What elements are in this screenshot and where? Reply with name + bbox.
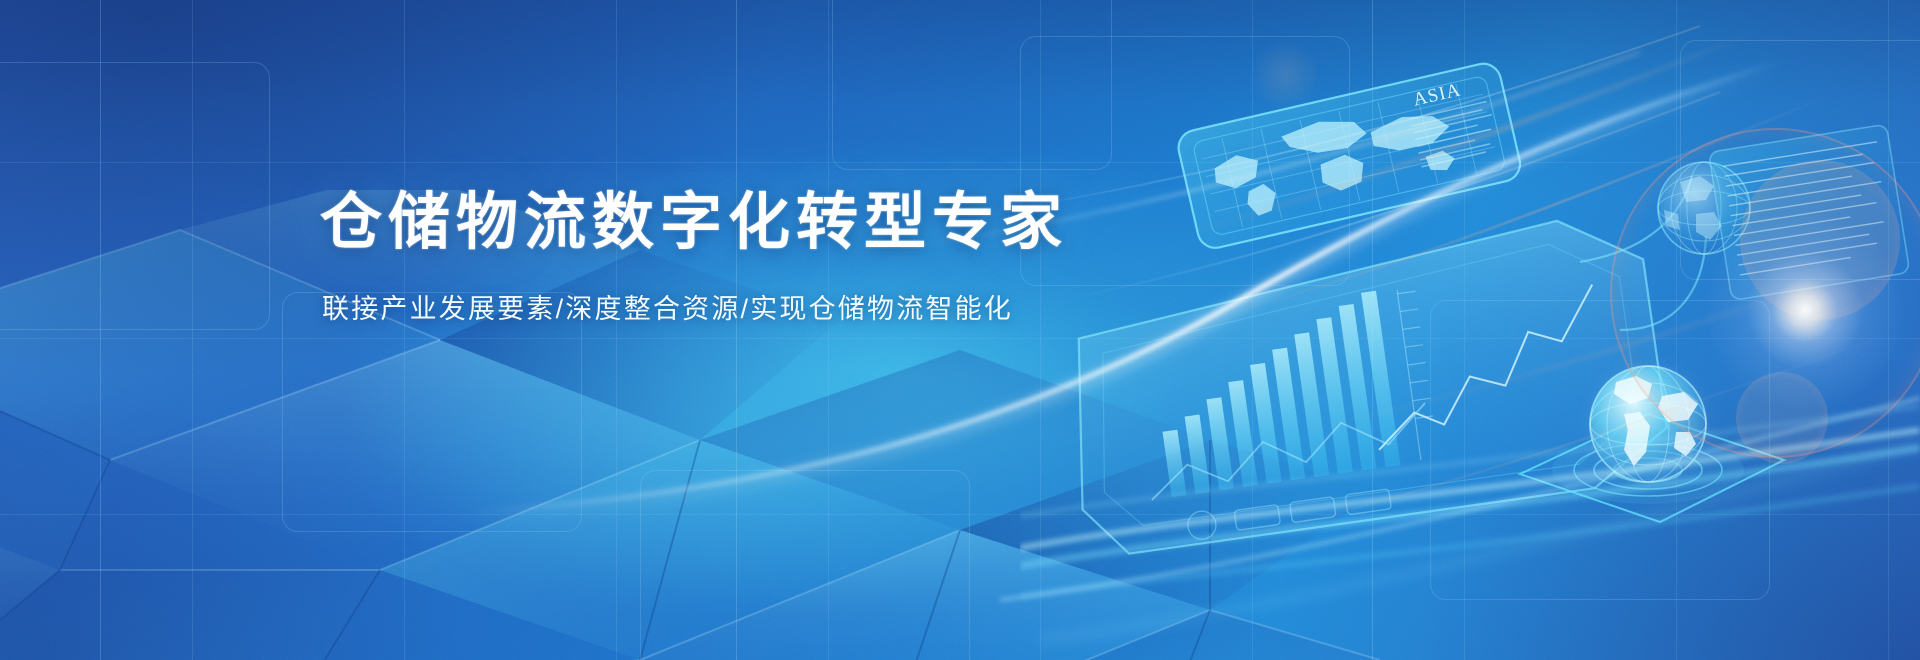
hero-banner: ASIA xyxy=(0,0,1920,660)
lens-flare-ring-icon xyxy=(1250,40,1320,110)
lens-flare-icon xyxy=(1690,195,1920,425)
page-subtitle: 联接产业发展要素/深度整合资源/实现仓储物流智能化 xyxy=(322,287,1100,326)
world-map-icon: ASIA xyxy=(1175,60,1524,251)
page-title: 仓储物流数字化转型专家 xyxy=(320,188,1100,257)
banner-copy: 仓储物流数字化转型专家 联接产业发展要素/深度整合资源/实现仓储物流智能化 xyxy=(320,188,1100,326)
